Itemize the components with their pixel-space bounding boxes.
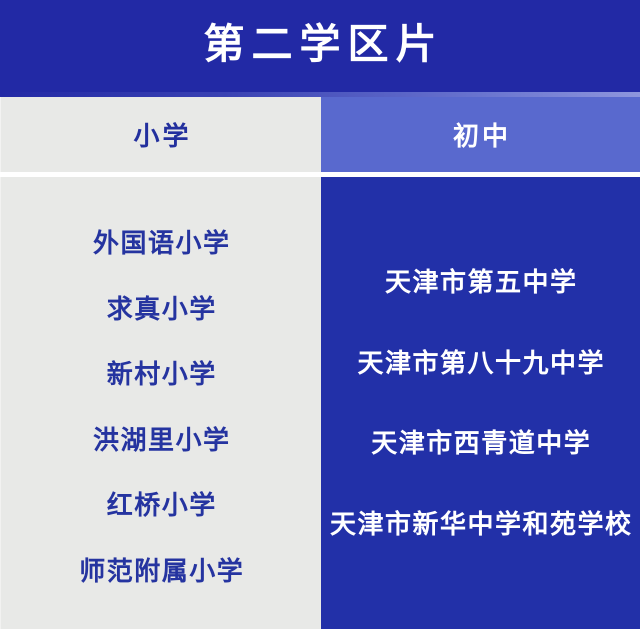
- middle-school-column: 天津市第五中学 天津市第八十九中学 天津市西青道中学 天津市新华中学和苑学校: [321, 177, 640, 629]
- list-item: 天津市西青道中学: [321, 427, 640, 460]
- list-item: 天津市第五中学: [321, 266, 640, 299]
- school-table: 小学 初中 外国语小学 求真小学 新村小学 洪湖里小学 红桥小学 师范附属小学 …: [0, 97, 640, 632]
- school-district-poster: 第二学区片 小学 初中 外国语小学 求真小学 新村小学 洪湖里小学 红桥小学 师…: [0, 0, 640, 636]
- page-title: 第二学区片: [197, 24, 444, 69]
- bottom-white-strip: [0, 632, 640, 636]
- table-header-row: 小学 初中: [0, 97, 640, 172]
- list-item: 师范附属小学: [1, 555, 321, 588]
- list-item: 求真小学: [1, 293, 321, 326]
- list-item: 新村小学: [1, 358, 321, 391]
- list-item: 天津市新华中学和苑学校: [321, 508, 640, 541]
- list-item: 洪湖里小学: [1, 424, 321, 457]
- column-header-primary-school: 小学: [0, 97, 321, 172]
- column-header-middle-school: 初中: [321, 97, 640, 172]
- list-item: 天津市第八十九中学: [321, 347, 640, 380]
- title-banner: 第二学区片: [0, 0, 640, 92]
- table-body-row: 外国语小学 求真小学 新村小学 洪湖里小学 红桥小学 师范附属小学 天津市第五中…: [0, 177, 640, 629]
- primary-school-column: 外国语小学 求真小学 新村小学 洪湖里小学 红桥小学 师范附属小学: [0, 177, 321, 629]
- list-item: 外国语小学: [1, 227, 321, 260]
- list-item: 红桥小学: [1, 489, 321, 522]
